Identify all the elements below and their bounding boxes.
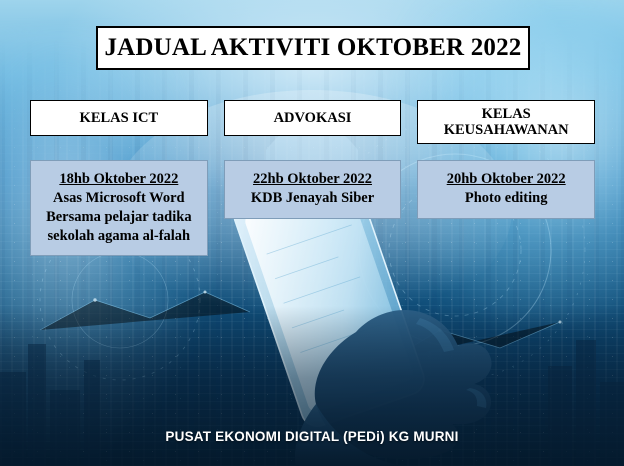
activity-detail: Asas Microsoft Word (37, 189, 201, 208)
poster-canvas: JADUAL AKTIVITI OKTOBER 2022 KELAS ICT A… (0, 0, 624, 466)
activity-detail: Bersama pelajar tadika (37, 208, 201, 227)
column-header-kelas-keusahawanan: KELAS KEUSAHAWANAN (417, 100, 595, 144)
column-header-label: KELAS KEUSAHAWANAN (444, 106, 569, 138)
poster-footer: PUSAT EKONOMI DIGITAL (PEDi) KG MURNI (0, 428, 624, 446)
column-header-label: KELAS ICT (80, 110, 159, 126)
activity-card-advokasi: 22hb Oktober 2022 KDB Jenayah Siber (224, 160, 402, 219)
poster-title-box: JADUAL AKTIVITI OKTOBER 2022 (96, 26, 530, 70)
activity-card-kelas-ict: 18hb Oktober 2022 Asas Microsoft Word Be… (30, 160, 208, 256)
activity-card-row: 18hb Oktober 2022 Asas Microsoft Word Be… (30, 160, 595, 256)
page-title: JADUAL AKTIVITI OKTOBER 2022 (104, 34, 521, 62)
activity-date: 20hb Oktober 2022 (424, 170, 588, 189)
column-header-advokasi: ADVOKASI (224, 100, 402, 136)
activity-detail: Photo editing (424, 189, 588, 208)
activity-detail: sekolah agama al-falah (37, 227, 201, 246)
column-header-row: KELAS ICT ADVOKASI KELAS KEUSAHAWANAN (30, 100, 595, 136)
column-header-label: ADVOKASI (274, 110, 352, 126)
activity-card-kelas-keusahawanan: 20hb Oktober 2022 Photo editing (417, 160, 595, 219)
activity-date: 18hb Oktober 2022 (37, 170, 201, 189)
footer-label: PUSAT EKONOMI DIGITAL (PEDi) KG MURNI (165, 429, 458, 444)
column-header-label-line1: KELAS (482, 106, 531, 122)
activity-date: 22hb Oktober 2022 (231, 170, 395, 189)
column-header-label-line2: KEUSAHAWANAN (444, 122, 569, 138)
activity-detail: KDB Jenayah Siber (231, 189, 395, 208)
column-header-kelas-ict: KELAS ICT (30, 100, 208, 136)
